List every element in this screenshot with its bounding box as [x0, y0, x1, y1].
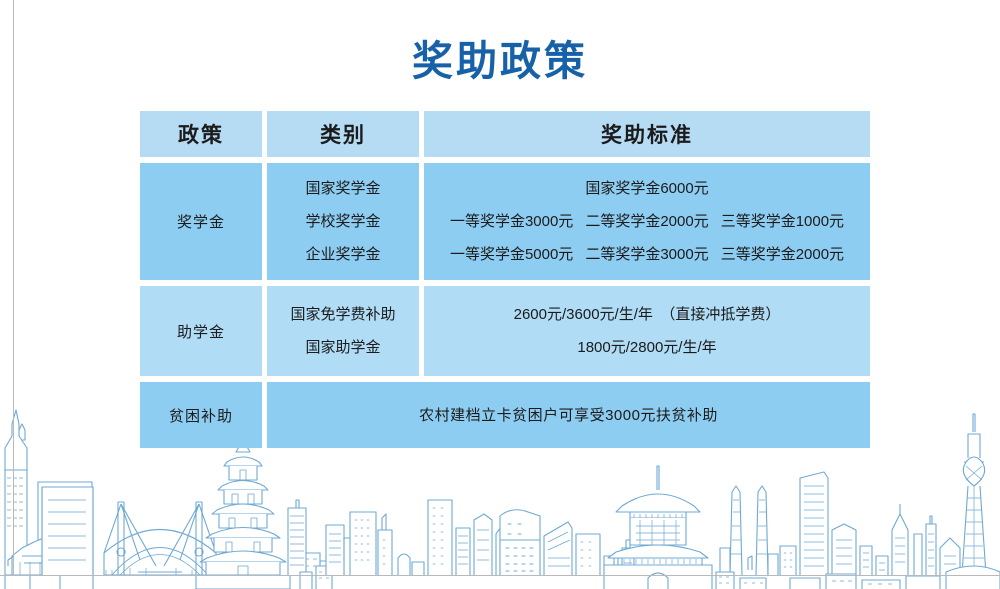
cell-policy-name: 助学金: [140, 286, 262, 376]
giant-wild-goose-pagoda-shape: [196, 438, 290, 589]
cell-standard-list: 农村建档立卡贫困户可享受3000元扶贫补助: [267, 382, 870, 448]
skyscraper-tower-shape: [5, 410, 27, 575]
standard-part: 三等奖学金1000元: [721, 213, 844, 230]
low-rise-cluster-left: [292, 553, 344, 575]
table-row: 助学金 国家免学费补助 国家助学金 2600元/3600元/生/年 （直接冲抵学…: [140, 286, 870, 376]
standard-item: 2600元/3600元/生/年 （直接冲抵学费）: [424, 298, 870, 331]
cell-standard-list: 2600元/3600元/生/年 （直接冲抵学费） 1800元/2800元/生/年: [424, 286, 870, 376]
standard-part: 二等奖学金2000元: [585, 213, 708, 230]
standard-part: 一等奖学金5000元: [450, 246, 573, 263]
table-header-row: 政策 类别 奖助标准: [140, 111, 870, 157]
standard-item: 1800元/2800元/生/年: [424, 331, 870, 364]
standard-part: 三等奖学金2000元: [721, 246, 844, 263]
category-item: 学校奖学金: [267, 205, 419, 238]
far-right-blocks: [906, 576, 940, 589]
table-row: 贫困补助 农村建档立卡贫困户可享受3000元扶贫补助: [140, 382, 870, 448]
standard-item: 国家奖学金6000元: [424, 172, 870, 205]
guide-line-ground: [0, 575, 1000, 576]
ribbed-tower-shape: [288, 500, 306, 575]
header-cell-standard: 奖助标准: [424, 111, 870, 157]
cell-standard-list: 国家奖学金6000元 一等奖学金3000元二等奖学金2000元三等奖学金1000…: [424, 163, 870, 280]
standard-item: 一等奖学金3000元二等奖学金2000元三等奖学金1000元: [424, 205, 870, 238]
category-item: 国家免学费补助: [267, 298, 419, 331]
cell-category-list: 国家免学费补助 国家助学金: [267, 286, 419, 376]
poster-canvas: 奖助政策 政策 类别 奖助标准 奖学金 国家奖学金 学校奖学金 企业奖学金: [0, 0, 1000, 589]
standard-item: 一等奖学金5000元二等奖学金3000元三等奖学金2000元: [424, 238, 870, 271]
temple-hall-shape: [5, 522, 93, 575]
standard-part: 国家奖学金6000元: [585, 180, 708, 197]
suspension-bridge-shape: [104, 502, 216, 575]
banded-tower-shape: [42, 487, 93, 575]
category-item: 企业奖学金: [267, 238, 419, 271]
category-item: 国家奖学金: [267, 172, 419, 205]
table-row: 奖学金 国家奖学金 学校奖学金 企业奖学金 国家奖学金6000元 一等奖学金30…: [140, 163, 870, 280]
standard-part: 二等奖学金3000元: [585, 246, 708, 263]
high-rise-cluster-right: [716, 472, 960, 589]
tv-tower-shape: [946, 414, 1000, 589]
cell-policy-name: 奖学金: [140, 163, 262, 280]
office-block-shape: [38, 482, 92, 575]
standard-part: 一等奖学金3000元: [450, 213, 573, 230]
category-item: 国家助学金: [267, 331, 419, 364]
left-ground-buildings: [5, 575, 93, 589]
policy-table: 政策 类别 奖助标准 奖学金 国家奖学金 学校奖学金 企业奖学金 国家奖学金60…: [135, 105, 875, 454]
header-cell-policy: 政策: [140, 111, 262, 157]
cell-policy-name: 贫困补助: [140, 382, 262, 448]
gate-tower-shape: [604, 466, 712, 589]
guide-line-vertical: [13, 0, 14, 576]
twin-towers-shape: [720, 486, 778, 575]
cell-category-list: 国家奖学金 学校奖学金 企业奖学金: [267, 163, 419, 280]
header-cell-category: 类别: [267, 111, 419, 157]
page-title: 奖助政策: [0, 38, 1000, 85]
